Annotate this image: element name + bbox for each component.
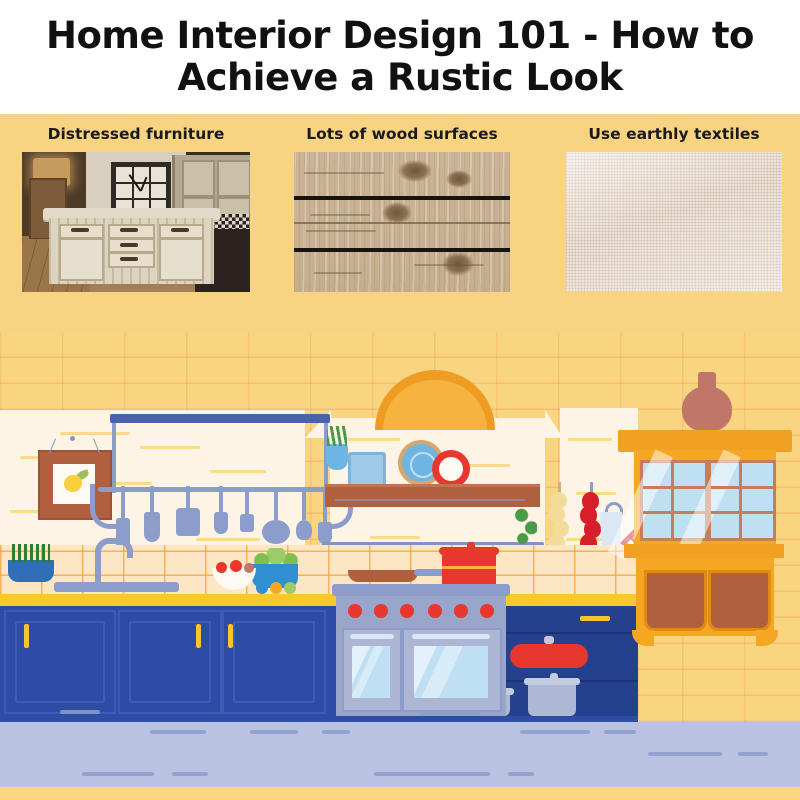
rustic-kitchen-illustration [0, 332, 800, 800]
shelf-square-dish [348, 452, 386, 488]
yellow-countertop [0, 594, 638, 606]
terracotta-vase [682, 386, 732, 432]
stovetop-red-pot [442, 554, 496, 588]
sink-faucet [95, 550, 101, 584]
linen-textile-photo [566, 152, 782, 292]
bottom-strip [0, 787, 800, 800]
range-hood [110, 414, 330, 423]
tip-card-earthly-textiles: Use earthly textiles [566, 114, 782, 292]
shelf-steel-pot-3 [528, 684, 576, 716]
counter-herb-planter [8, 560, 54, 582]
orange-china-hutch [630, 402, 780, 652]
infographic-page: Home Interior Design 101 - How to Achiev… [0, 0, 800, 800]
tip-caption-1: Distressed furniture [22, 114, 250, 144]
shelf-potted-plant [326, 444, 348, 470]
kitchen-sink [54, 582, 179, 592]
tip-card-distressed-furniture: Distressed furniture [22, 114, 250, 292]
wall-slant-right [545, 410, 563, 438]
tip-card-wood-surfaces: Lots of wood surfaces [294, 114, 510, 292]
tip-caption-3: Use earthly textiles [566, 114, 782, 144]
gas-range-oven [336, 590, 506, 718]
wood-plank-floor [0, 722, 800, 787]
page-title: Home Interior Design 101 - How to Achiev… [30, 15, 770, 99]
tips-container: Distressed furniture [0, 114, 800, 346]
tip-caption-2: Lots of wood surfaces [294, 114, 510, 144]
distressed-furniture-photo [22, 152, 250, 292]
wood-planks-photo [294, 152, 510, 292]
range-hood-leg-left [112, 423, 116, 493]
stovetop-frying-pan [348, 570, 418, 582]
wooden-display-shelf [325, 484, 540, 507]
hanging-ivy-plant [515, 508, 537, 544]
shelf-red-pot [510, 644, 588, 668]
header-banner: Home Interior Design 101 - How to Achiev… [0, 0, 800, 114]
shelf-red-dish [432, 450, 470, 488]
